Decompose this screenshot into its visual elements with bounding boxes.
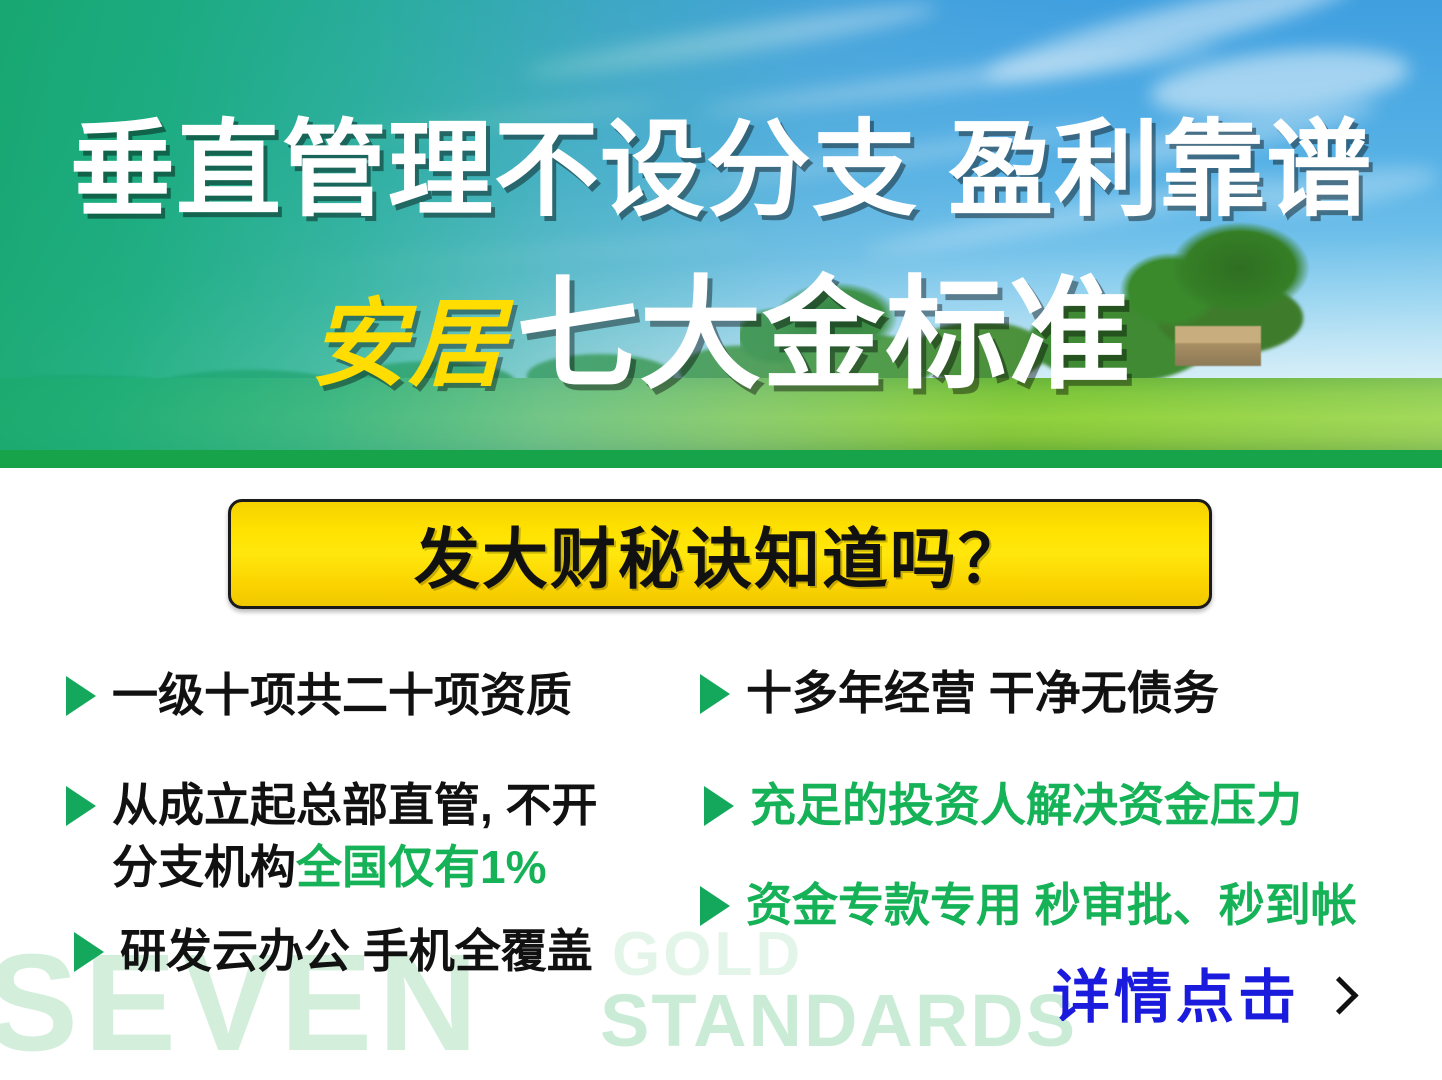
green-triangle-icon [66, 676, 96, 716]
list-item-line2-plain: 分支机构 [112, 841, 296, 893]
hero-headline-line2: 安居七大金标准 [0, 272, 1442, 408]
list-item-line1: 从成立起总部直管, 不开 [112, 774, 632, 836]
list-item-label: 充足的投资人解决资金压力 [750, 774, 1302, 836]
list-item-label: 资金专款专用 秒审批、秒到帐 [746, 874, 1357, 936]
green-triangle-icon [704, 786, 734, 826]
hero-headline-accent: 安居 [311, 291, 517, 398]
hero-headline-line1: 垂直管理不设分支 盈利靠谱 [0, 116, 1442, 226]
green-triangle-icon [700, 674, 730, 714]
details-cta-label: 详情点击 [1052, 967, 1300, 1029]
hero-bottom-band [0, 450, 1442, 468]
chevron-right-icon [1324, 976, 1350, 1020]
list-item[interactable]: 资金专款专用 秒审批、秒到帐 [700, 874, 1357, 936]
green-triangle-icon [66, 786, 96, 826]
list-item-label: 一级十项共二十项资质 [112, 664, 572, 726]
list-item[interactable]: 研发云办公 手机全覆盖 [74, 920, 593, 982]
details-cta-button[interactable]: 详情点击 [1052, 967, 1350, 1029]
list-item-line2-highlight: 全国仅有1% [296, 841, 546, 893]
question-banner[interactable]: 发大财秘诀知道吗？ [228, 499, 1212, 609]
list-item[interactable]: 充足的投资人解决资金压力 [704, 774, 1302, 836]
hero-banner: 垂直管理不设分支 盈利靠谱 安居七大金标准 [0, 0, 1442, 468]
list-item[interactable]: 从成立起总部直管, 不开 分支机构全国仅有1% [66, 774, 632, 898]
list-item-line2: 分支机构全国仅有1% [112, 836, 632, 898]
list-item[interactable]: 十多年经营 干净无债务 [700, 662, 1219, 724]
list-item-label: 从成立起总部直管, 不开 分支机构全国仅有1% [112, 774, 632, 898]
list-item[interactable]: 一级十项共二十项资质 [66, 664, 572, 726]
green-triangle-icon [700, 886, 730, 926]
hero-headline-main: 七大金标准 [517, 267, 1132, 403]
list-item-label: 研发云办公 手机全覆盖 [120, 920, 593, 982]
feature-list: 一级十项共二十项资质 从成立起总部直管, 不开 分支机构全国仅有1% 研发云办公… [0, 648, 1442, 988]
watermark-standards: STANDARDS [600, 984, 1077, 1058]
question-banner-text: 发大财秘诀知道吗？ [414, 506, 1026, 602]
green-triangle-icon [74, 932, 104, 972]
list-item-label: 十多年经营 干净无债务 [746, 662, 1219, 724]
